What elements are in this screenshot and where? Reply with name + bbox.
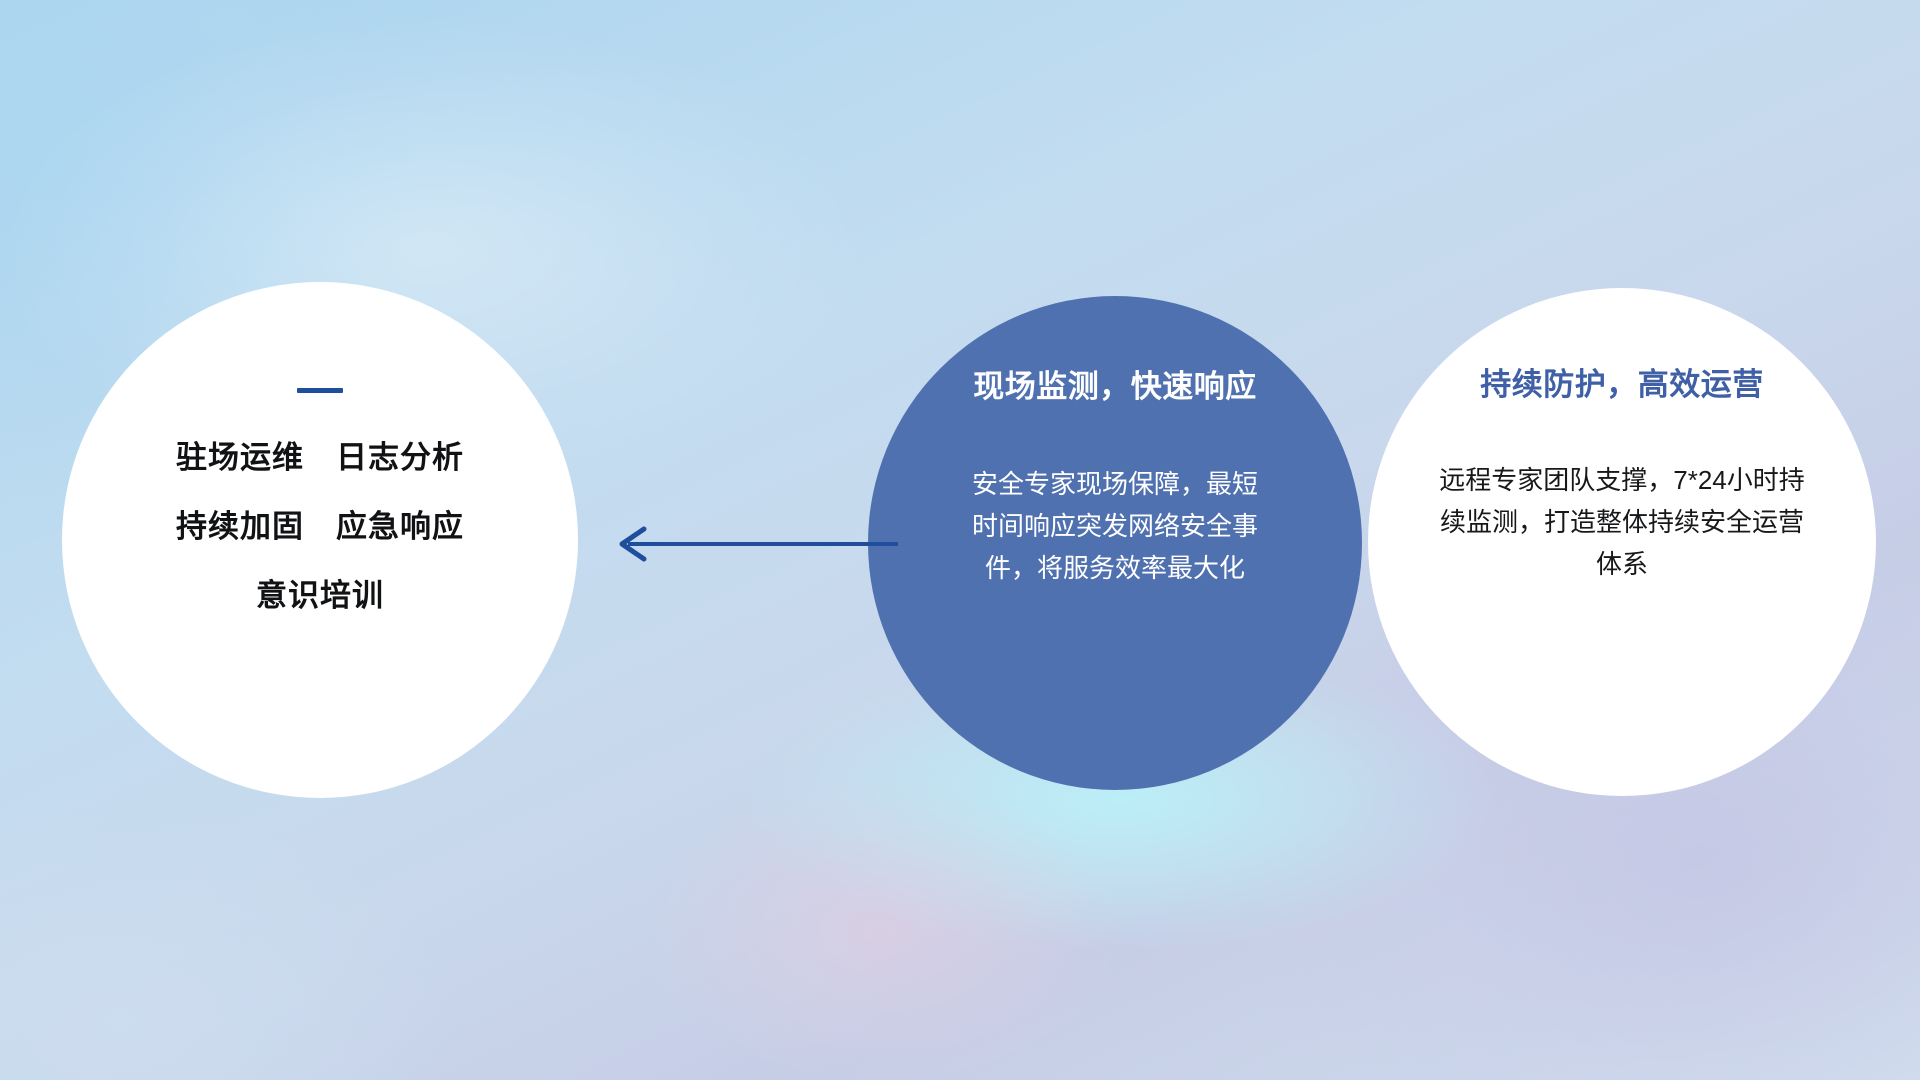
accent-dash-icon xyxy=(297,388,343,393)
left-circle-line-3: 意识培训 xyxy=(256,580,384,611)
arrow-left-icon xyxy=(598,508,898,580)
right-circle-content: 持续防护，高效运营 远程专家团队支撑，7*24小时持续监测，打造整体持续安全运营… xyxy=(1368,288,1876,796)
slide-canvas: 驻场运维 日志分析 持续加固 应急响应 意识培训 现场监测，快速响应 安全专家现… xyxy=(0,0,1920,1080)
center-circle-content: 现场监测，快速响应 安全专家现场保障，最短时间响应突发网络安全事件，将服务效率最… xyxy=(868,296,1362,790)
right-circle-body: 远程专家团队支撑，7*24小时持续监测，打造整体持续安全运营体系 xyxy=(1437,459,1807,585)
left-circle-line-1: 驻场运维 日志分析 xyxy=(176,442,464,473)
center-circle-body: 安全专家现场保障，最短时间响应突发网络安全事件，将服务效率最大化 xyxy=(963,463,1268,589)
left-circle-line-2: 持续加固 应急响应 xyxy=(176,511,464,542)
right-circle-title: 持续防护，高效运营 xyxy=(1480,366,1764,403)
left-circle-content: 驻场运维 日志分析 持续加固 应急响应 意识培训 xyxy=(62,282,578,798)
center-circle-title: 现场监测，快速响应 xyxy=(973,368,1257,405)
